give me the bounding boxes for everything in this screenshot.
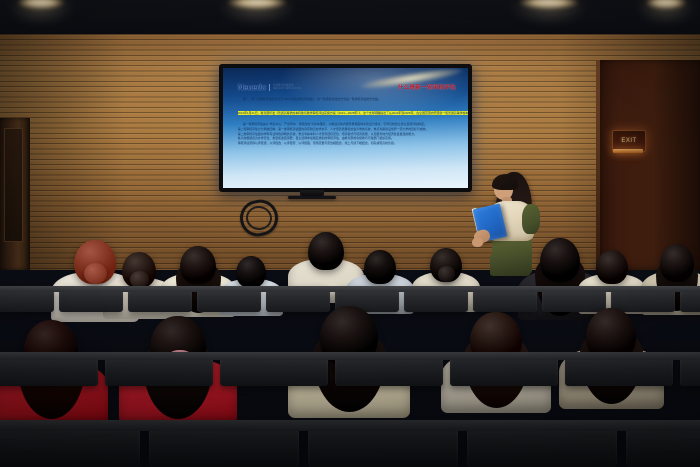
seat-row-2 bbox=[0, 352, 700, 386]
seat-row-rail bbox=[0, 420, 700, 431]
audience-near-row bbox=[0, 0, 700, 467]
seat-row-rail bbox=[0, 352, 700, 360]
lecture-hall-photo: EXIT Neuedu 东软教育科技集团 NEUSOFT EDUCATION 什… bbox=[0, 0, 700, 467]
seat-row-1 bbox=[0, 420, 700, 467]
